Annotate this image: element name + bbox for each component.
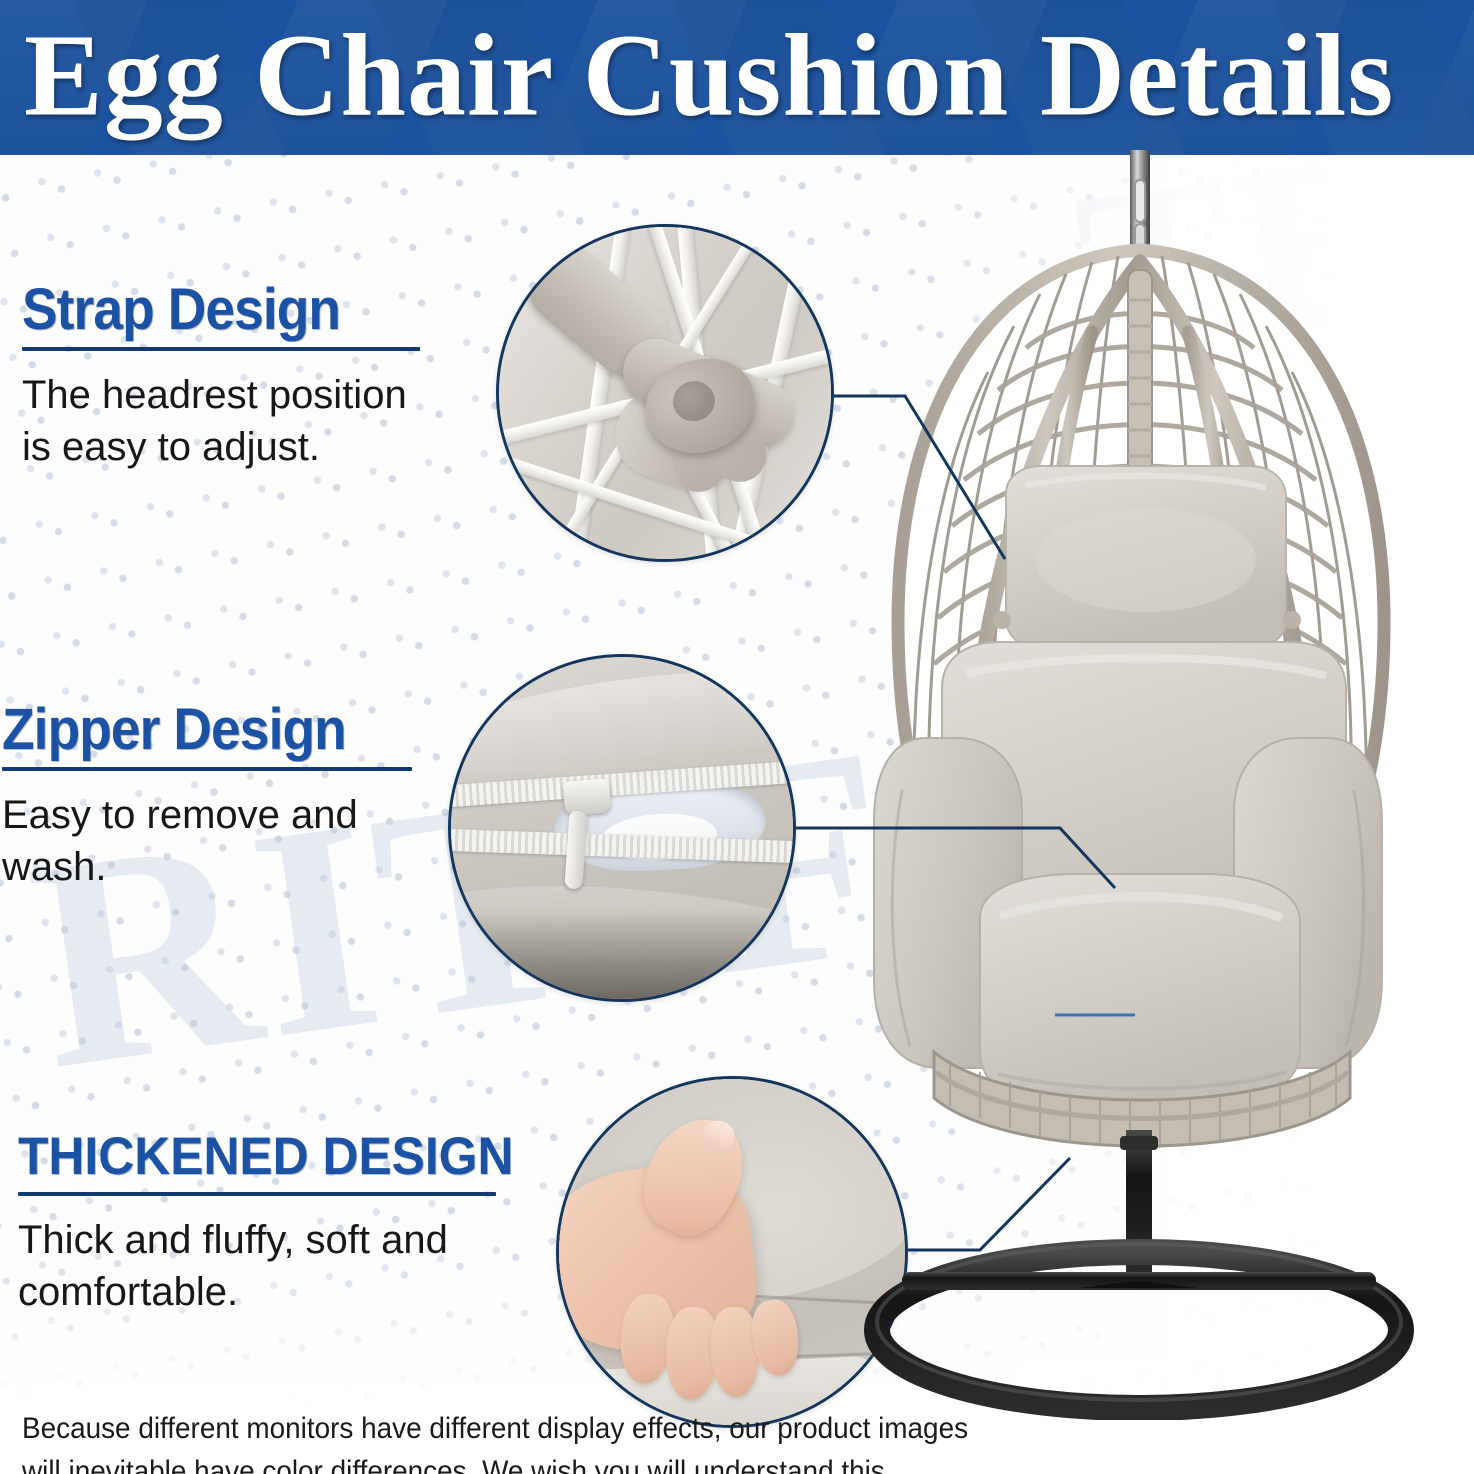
infographic-page: RITIFOTE TE RITIFOTE RITIFOTE Egg Chair …	[0, 0, 1474, 1474]
strap-detail-circle	[496, 224, 834, 562]
feature-body-strap: The headrest position is easy to adjust.	[22, 369, 442, 473]
feature-block-strap: Strap Design The headrest position is ea…	[22, 280, 442, 473]
feature-heading-strap: Strap Design	[22, 280, 408, 339]
headrest-pillow	[993, 466, 1301, 648]
feature-underline-thickened	[18, 1192, 496, 1196]
zipper-closeup-photo	[451, 657, 793, 999]
color-disclaimer: Because different monitors have differen…	[22, 1408, 999, 1474]
feature-body-zipper: Easy to remove and wash.	[2, 789, 432, 893]
hanging-egg-chair	[830, 150, 1474, 1420]
feature-heading-thickened: THICKENED DESIGN	[18, 1130, 488, 1184]
feature-block-thickened: THICKENED DESIGN Thick and fluffy, soft …	[18, 1130, 518, 1318]
strap-knot-photo	[499, 227, 831, 559]
seat-cushion	[980, 874, 1300, 1108]
zipper-detail-circle	[448, 654, 796, 1002]
header-banner: Egg Chair Cushion Details	[0, 0, 1474, 155]
feature-underline-strap	[22, 347, 420, 351]
page-title: Egg Chair Cushion Details	[24, 16, 1394, 134]
feature-block-zipper: Zipper Design Easy to remove and wash.	[2, 700, 432, 893]
feature-heading-zipper: Zipper Design	[2, 700, 398, 759]
feature-underline-zipper	[2, 767, 412, 771]
feature-body-thickened: Thick and fluffy, soft and comfortable.	[18, 1214, 518, 1318]
